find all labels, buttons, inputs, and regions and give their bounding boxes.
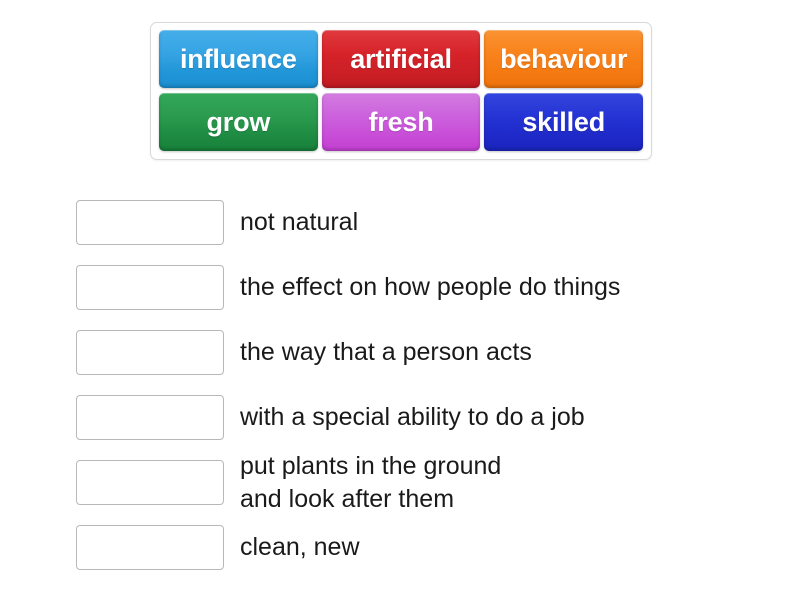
definition-text: put plants in the ground and look after … xyxy=(240,450,501,516)
answer-drop-box[interactable] xyxy=(76,265,224,310)
word-tile-label: artificial xyxy=(350,44,452,75)
answer-drop-box[interactable] xyxy=(76,460,224,505)
word-tile-artificial[interactable]: artificial xyxy=(322,30,481,88)
answer-drop-box[interactable] xyxy=(76,525,224,570)
answer-row: the way that a person acts xyxy=(76,320,776,385)
word-tile-behaviour[interactable]: behaviour xyxy=(484,30,643,88)
word-bank-row-2: grow fresh skilled xyxy=(157,93,645,151)
answer-row: with a special ability to do a job xyxy=(76,385,776,450)
word-tile-label: skilled xyxy=(522,107,605,138)
word-tile-label: fresh xyxy=(368,107,433,138)
answer-drop-box[interactable] xyxy=(76,200,224,245)
word-tile-influence[interactable]: influence xyxy=(159,30,318,88)
word-bank-row-1: influence artificial behaviour xyxy=(157,30,645,88)
definition-text: not natural xyxy=(240,206,358,239)
answer-row: put plants in the ground and look after … xyxy=(76,450,776,515)
definition-text: with a special ability to do a job xyxy=(240,401,585,434)
answer-drop-box[interactable] xyxy=(76,330,224,375)
answer-row: not natural xyxy=(76,190,776,255)
answer-list: not natural the effect on how people do … xyxy=(76,190,776,580)
definition-text: clean, new xyxy=(240,531,360,564)
word-tile-fresh[interactable]: fresh xyxy=(322,93,481,151)
answer-drop-box[interactable] xyxy=(76,395,224,440)
word-tile-label: grow xyxy=(206,107,270,138)
answer-row: clean, new xyxy=(76,515,776,580)
word-tile-label: behaviour xyxy=(500,44,627,75)
answer-row: the effect on how people do things xyxy=(76,255,776,320)
word-tile-label: influence xyxy=(180,44,297,75)
definition-text: the way that a person acts xyxy=(240,336,532,369)
word-tile-grow[interactable]: grow xyxy=(159,93,318,151)
definition-text: the effect on how people do things xyxy=(240,271,620,304)
word-tile-skilled[interactable]: skilled xyxy=(484,93,643,151)
word-bank: influence artificial behaviour grow fres… xyxy=(150,22,652,160)
